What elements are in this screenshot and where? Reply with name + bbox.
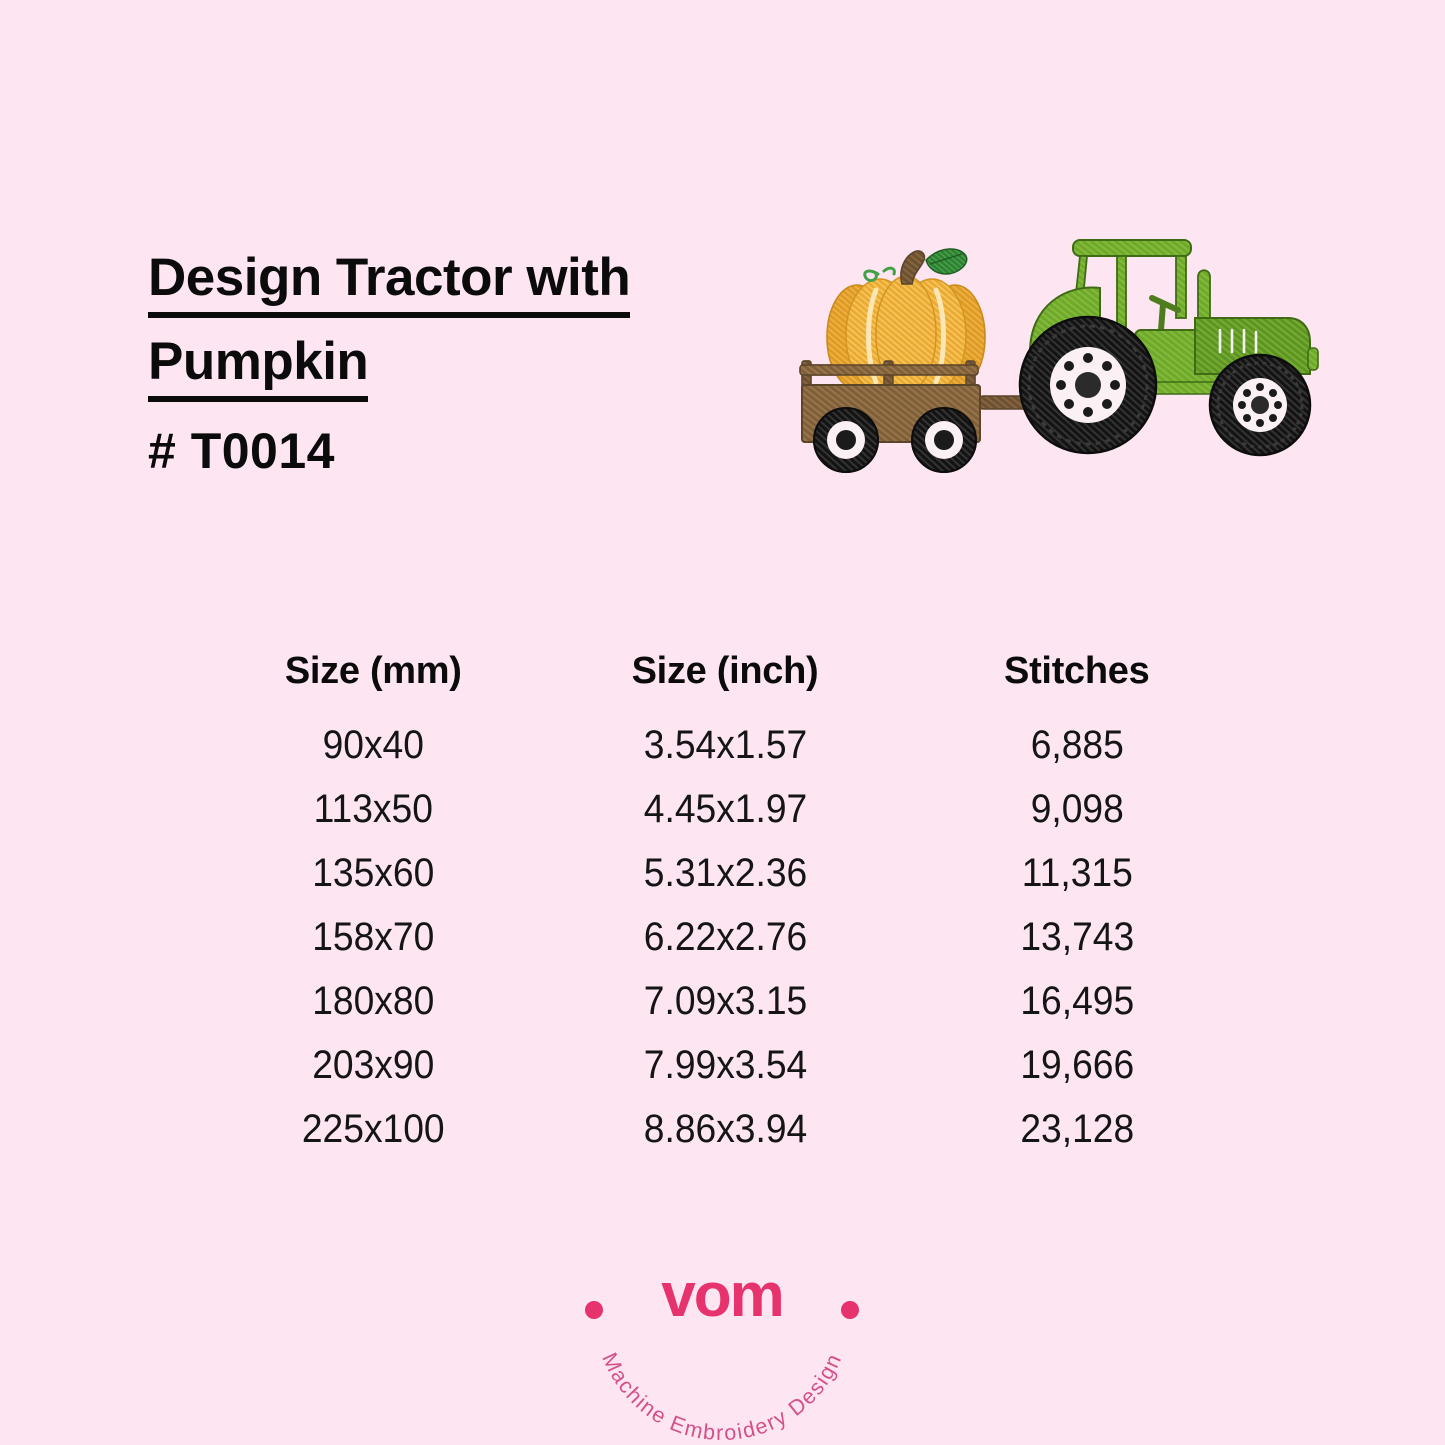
page-title-line-2: Pumpkin (148, 320, 748, 404)
tractor-rear-wheel (1020, 317, 1156, 453)
design-code: # T0014 (148, 420, 748, 482)
page-title-line-1-text: Design Tractor with (148, 248, 630, 318)
tractor-with-pumpkin-artwork (780, 222, 1325, 497)
table-row: 158x70 6.22x2.76 13,743 (200, 905, 1250, 969)
table-row: 113x50 4.45x1.97 9,098 (200, 777, 1250, 841)
column-header-size-inch: Size (inch) (547, 650, 904, 713)
column-header-stitches: Stitches (904, 650, 1251, 713)
cell-size-mm: 180x80 (212, 969, 534, 1033)
cell-size-inch: 8.86x3.94 (559, 1097, 891, 1161)
cell-size-inch: 5.31x2.36 (559, 841, 891, 905)
column-header-size-mm: Size (mm) (200, 650, 547, 713)
cell-size-inch: 4.45x1.97 (559, 777, 891, 841)
cell-size-mm: 113x50 (212, 777, 534, 841)
cell-size-mm: 90x40 (212, 713, 534, 777)
cell-size-mm: 203x90 (212, 1033, 534, 1097)
logo-dot-right (841, 1301, 859, 1319)
size-spec-table: Size (mm) Size (inch) Stitches 90x40 3.5… (200, 650, 1250, 1161)
embroidery-illustration (780, 222, 1325, 497)
cell-stitches: 9,098 (916, 777, 1238, 841)
spec-table-element: Size (mm) Size (inch) Stitches 90x40 3.5… (200, 650, 1250, 1161)
logo-svg: vom Machine Embroidery Design (572, 1238, 872, 1428)
cell-size-inch: 7.09x3.15 (559, 969, 891, 1033)
cell-stitches: 23,128 (916, 1097, 1238, 1161)
table-row: 135x60 5.31x2.36 11,315 (200, 841, 1250, 905)
page-title-line-2-text: Pumpkin (148, 332, 368, 402)
logo-tagline-path: Machine Embroidery Design (597, 1349, 846, 1445)
logo-tagline: Machine Embroidery Design (597, 1349, 846, 1445)
cell-stitches: 13,743 (916, 905, 1238, 969)
tractor-front-wheel (1210, 355, 1310, 455)
cell-size-inch: 7.99x3.54 (559, 1033, 891, 1097)
table-row: 203x90 7.99x3.54 19,666 (200, 1033, 1250, 1097)
page-title-line-1: Design Tractor with (148, 236, 748, 320)
table-row: 90x40 3.54x1.57 6,885 (200, 713, 1250, 777)
logo-wordmark: vom (661, 1261, 782, 1330)
cell-size-mm: 225x100 (212, 1097, 534, 1161)
cell-stitches: 16,495 (916, 969, 1238, 1033)
brand-logo: vom Machine Embroidery Design (572, 1238, 872, 1428)
design-header: Design Tractor with Pumpkin # T0014 (148, 236, 748, 482)
table-row: 180x80 7.09x3.15 16,495 (200, 969, 1250, 1033)
cell-size-mm: 135x60 (212, 841, 534, 905)
cell-stitches: 19,666 (916, 1033, 1238, 1097)
cell-size-inch: 3.54x1.57 (559, 713, 891, 777)
logo-dot-left (585, 1301, 603, 1319)
table-row: 225x100 8.86x3.94 23,128 (200, 1097, 1250, 1161)
design-listing-page: Design Tractor with Pumpkin # T0014 (0, 0, 1445, 1445)
table-header-row: Size (mm) Size (inch) Stitches (200, 650, 1250, 713)
cell-size-mm: 158x70 (212, 905, 534, 969)
cell-size-inch: 6.22x2.76 (559, 905, 891, 969)
tractor (1020, 240, 1318, 455)
cell-stitches: 11,315 (916, 841, 1238, 905)
cell-stitches: 6,885 (916, 713, 1238, 777)
